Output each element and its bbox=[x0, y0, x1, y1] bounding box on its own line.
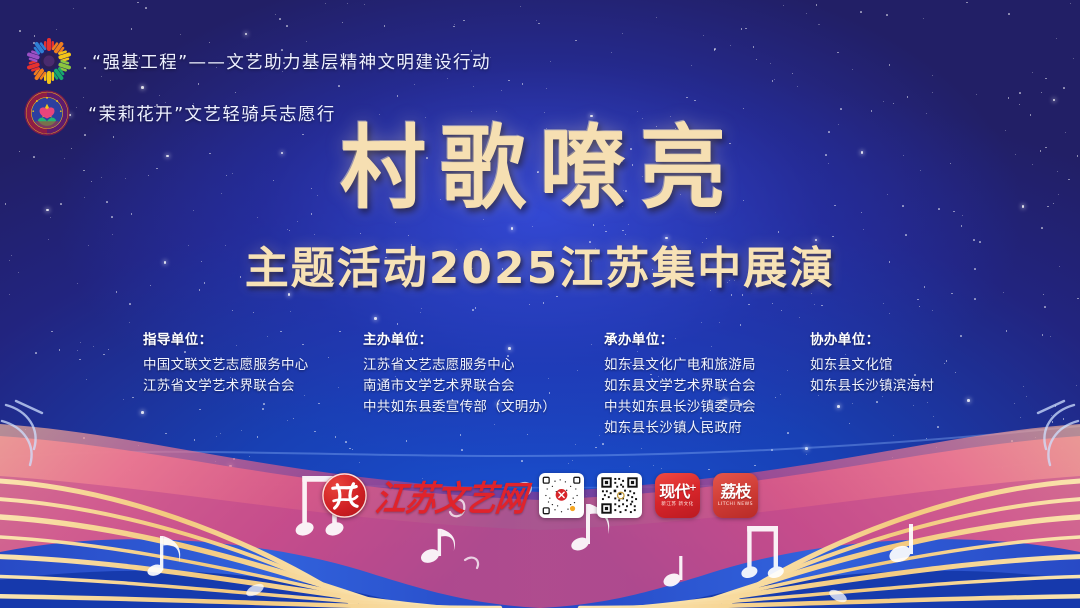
credits-column-guidance: 指导单位： 中国文联文艺志愿服务中心 江苏省文学艺术界联合会 bbox=[143, 328, 309, 397]
header-row-qiangji: “强基工程”——文艺助力基层精神文明建设行动 bbox=[24, 36, 491, 86]
credits-item: 江苏省文学艺术界联合会 bbox=[143, 376, 309, 397]
xiandai-label: 现代 bbox=[659, 482, 689, 501]
litchi-tagline: LITCHI NEWS bbox=[718, 503, 753, 508]
litchi-label: 荔枝 bbox=[720, 484, 750, 500]
credits-column-host: 承办单位： 如东县文化广电和旅游局 如东县文学艺术界联合会 中共如东县长沙镇委员… bbox=[604, 328, 756, 439]
colorful-hands-circle-logo bbox=[24, 36, 74, 86]
credits-block: 指导单位： 中国文联文艺志愿服务中心 江苏省文学艺术界联合会 主办单位： 江苏省… bbox=[0, 328, 1080, 438]
page-title: 村歌嘹亮 bbox=[340, 123, 740, 214]
credits-item: 如东县文学艺术界联合会 bbox=[604, 376, 756, 397]
xiandai-app-name: 现代+ bbox=[659, 484, 696, 500]
credits-heading: 主办单位： bbox=[363, 328, 556, 348]
wechat-qr-code[interactable] bbox=[539, 473, 584, 518]
credits-heading: 协办单位： bbox=[810, 328, 934, 348]
credits-column-organizer: 主办单位： 江苏省文艺志愿服务中心 南通市文学艺术界联合会 中共如东县委宣传部（… bbox=[363, 328, 556, 418]
credits-item: 如东县文化广电和旅游局 bbox=[604, 355, 756, 376]
poster-canvas: “强基工程”——文艺助力基层精神文明建设行动 “茉莉花开”文艺轻 bbox=[0, 0, 1080, 608]
header-text-qiangji: “强基工程”——文艺助力基层精神文明建设行动 bbox=[92, 49, 491, 74]
credits-item: 中共如东县长沙镇委员会 bbox=[604, 397, 756, 418]
jiangsu-wenyi-brand[interactable]: 江苏文艺网 bbox=[322, 473, 526, 518]
jiangsu-wenyi-circle-mark bbox=[322, 473, 367, 518]
jiangsu-wenyi-wordmark: 江苏文艺网 bbox=[373, 470, 529, 520]
credits-item: 中共如东县委宣传部（文明办） bbox=[363, 397, 556, 418]
header-text-molihua: “茉莉花开”文艺轻骑兵志愿行 bbox=[88, 101, 336, 126]
subtitle-wrap: 主题活动2025江苏集中展演 bbox=[0, 232, 1080, 296]
xiandai-tagline: 新江苏 新文化 bbox=[661, 503, 694, 508]
main-title-wrap: 村歌嘹亮 bbox=[0, 126, 1080, 212]
plus-superscript: + bbox=[689, 483, 696, 493]
litchi-news-app-icon[interactable]: 荔枝 LITCHI NEWS bbox=[713, 473, 758, 518]
footer-logo-strip: 江苏文艺网 bbox=[0, 473, 1080, 518]
credits-item: 如东县文化馆 bbox=[810, 355, 934, 376]
credits-item: 如东县长沙镇人民政府 bbox=[604, 418, 756, 439]
credits-column-cohost: 协办单位： 如东县文化馆 如东县长沙镇滨海村 bbox=[810, 328, 934, 397]
credits-item: 中国文联文艺志愿服务中心 bbox=[143, 355, 309, 376]
credits-heading: 承办单位： bbox=[604, 328, 756, 348]
credits-item: 南通市文学艺术界联合会 bbox=[363, 376, 556, 397]
credits-item: 如东县长沙镇滨海村 bbox=[810, 376, 934, 397]
page-subtitle: 主题活动2025江苏集中展演 bbox=[245, 232, 835, 296]
qr-code[interactable] bbox=[597, 473, 642, 518]
xiandai-plus-app-icon[interactable]: 现代+ 新江苏 新文化 bbox=[655, 473, 700, 518]
credits-item: 江苏省文艺志愿服务中心 bbox=[363, 355, 556, 376]
credits-heading: 指导单位： bbox=[143, 328, 309, 348]
